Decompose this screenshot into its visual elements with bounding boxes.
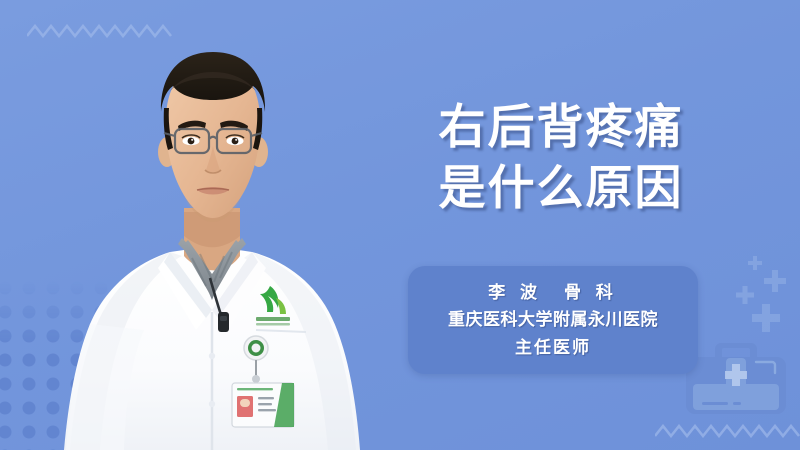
doctor-organization: 重庆医科大学附属永川医院 — [448, 307, 658, 333]
medical-cross-icon — [748, 256, 762, 270]
zigzag-bottom-icon — [655, 424, 800, 438]
doctor-name-and-department: 李 波 骨 科 — [488, 280, 617, 305]
medical-briefcase-icon — [686, 340, 786, 418]
medical-cross-icon — [736, 286, 754, 304]
medical-cross-icon — [764, 270, 786, 292]
video-thumbnail: 右后背疼痛 是什么原因 李 波 骨 科 重庆医科大学附属永川医院 主任医师 — [0, 0, 800, 450]
doctor-info-card: 李 波 骨 科 重庆医科大学附属永川医院 主任医师 — [408, 266, 698, 374]
doctor-portrait — [60, 0, 390, 450]
doctor-job-title: 主任医师 — [515, 335, 591, 360]
medical-cross-icon — [752, 304, 780, 332]
